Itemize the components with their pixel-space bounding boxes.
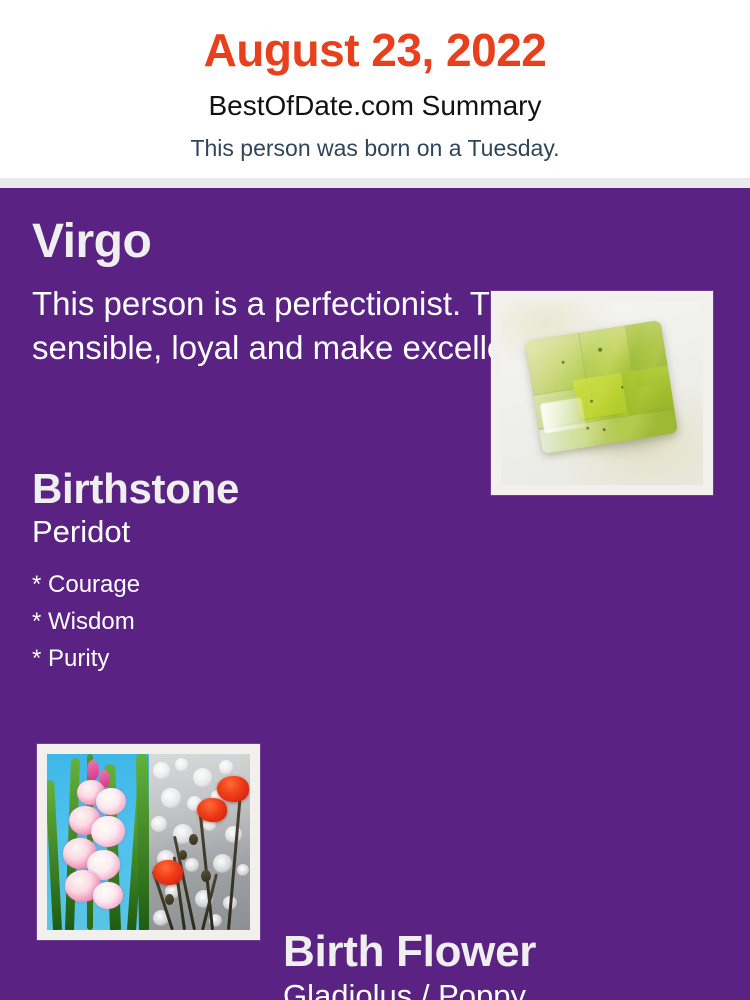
birth-flower-heading: Birth Flower (283, 929, 733, 975)
birth-flower-name: Gladiolus / Poppy (283, 975, 733, 1000)
birth-flower-text-block: Birth Flower Gladiolus / Poppy * Strengt… (283, 929, 733, 1000)
peridot-image-inner (501, 301, 703, 485)
poppy-bud (179, 850, 187, 860)
birthdate-summary-card: August 23, 2022 BestOfDate.com Summary T… (0, 0, 750, 1000)
birthstone-text-block: Birthstone Peridot * Courage * Wisdom * … (32, 467, 472, 671)
leaf (47, 780, 62, 930)
poppy-bloom (153, 860, 183, 885)
bokeh-dot (225, 826, 242, 843)
flower-image-inner (47, 754, 250, 930)
bokeh-dot (175, 758, 188, 771)
poppy-bud (165, 894, 174, 905)
bokeh-dot (237, 864, 249, 876)
leaf (136, 754, 149, 930)
gem-facet (579, 326, 632, 378)
gladiolus-bloom (96, 788, 126, 815)
birthstone-trait: * Courage (32, 560, 472, 597)
card-header: August 23, 2022 BestOfDate.com Summary T… (0, 0, 750, 178)
poppy-bloom (217, 776, 249, 802)
birthstone-trait-list: * Courage * Wisdom * Purity (32, 550, 472, 671)
birthstone-trait: * Purity (32, 634, 472, 671)
peridot-gemstone-photo (491, 291, 713, 495)
bokeh-dot (153, 762, 170, 779)
birthstone-section: Birthstone Peridot * Courage * Wisdom * … (0, 467, 750, 682)
birthstone-heading: Birthstone (32, 467, 472, 511)
bokeh-dot (185, 858, 199, 872)
site-summary-subtitle: BestOfDate.com Summary (0, 73, 750, 120)
birthstone-name: Peridot (32, 511, 472, 550)
bokeh-dot (151, 816, 167, 832)
bokeh-dot (213, 854, 232, 873)
gladiolus-bloom (91, 816, 125, 847)
birthstone-trait: * Wisdom (32, 597, 472, 634)
page-title: August 23, 2022 (0, 0, 750, 73)
zodiac-sign-name: Virgo (32, 218, 712, 266)
poppy-bud (189, 834, 198, 845)
gladiolus-bud (87, 760, 99, 780)
gladiolus-bloom (93, 882, 123, 909)
bokeh-dot (193, 768, 212, 787)
gladiolus-poppy-photo (37, 744, 260, 940)
poppy-bloom (197, 798, 227, 822)
bokeh-dot (161, 788, 181, 808)
header-divider (0, 178, 750, 188)
peridot-crystal (525, 320, 679, 454)
bokeh-dot (219, 760, 233, 774)
born-weekday-line: This person was born on a Tuesday. (0, 120, 750, 160)
poppy-photo-half (149, 754, 251, 930)
poppy-bud (201, 870, 211, 882)
gladiolus-photo-half (47, 754, 149, 930)
